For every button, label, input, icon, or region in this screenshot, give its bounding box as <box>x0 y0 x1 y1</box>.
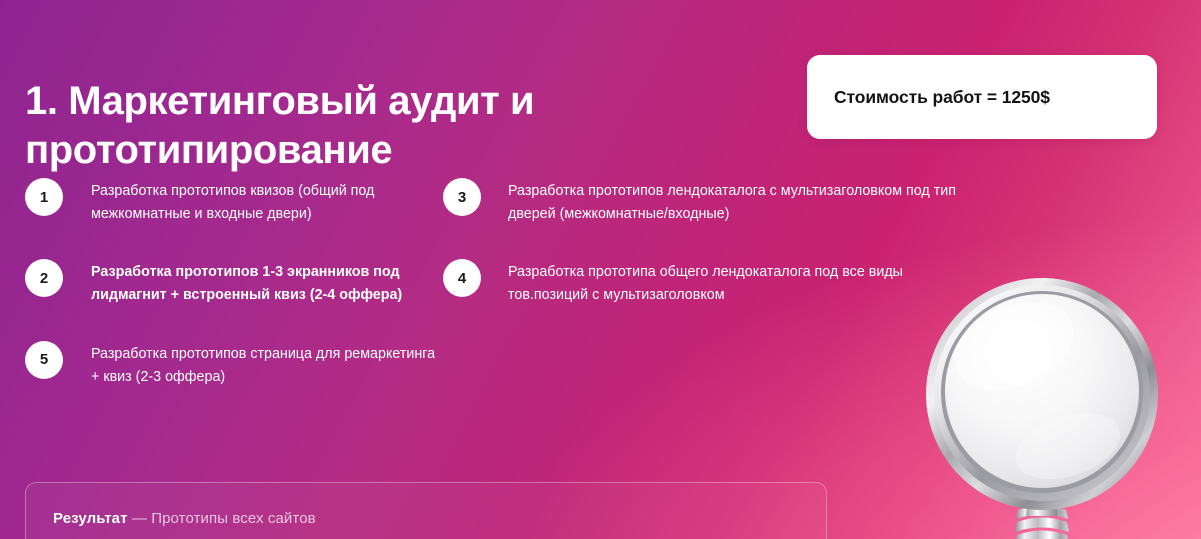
list-item: 3 Разработка прототипов лендокаталога с … <box>443 178 963 226</box>
item-text: Разработка прототипов лендокаталога с му… <box>508 178 963 226</box>
list-item: 4 Разработка прототипа общего лендокатал… <box>443 259 963 307</box>
item-text: Разработка прототипа общего лендокаталог… <box>508 259 963 307</box>
page-title: 1. Маркетинговый аудит и прототипировани… <box>25 77 665 175</box>
item-number-badge: 3 <box>443 178 481 216</box>
item-list-right: 3 Разработка прототипов лендокаталога с … <box>443 178 963 341</box>
item-number-badge: 1 <box>25 178 63 216</box>
item-text: Разработка прототипов квизов (общий под … <box>91 178 445 226</box>
result-bar: Результат — Прототипы всех сайтов <box>25 482 827 539</box>
list-item: 2 Разработка прототипов 1-3 экранников п… <box>25 259 445 307</box>
list-item: 5 Разработка прототипов страница для рем… <box>25 341 445 389</box>
result-separator: — <box>128 510 152 527</box>
result-value: Прототипы всех сайтов <box>151 510 316 527</box>
price-badge-label: Стоимость работ = 1250$ <box>807 87 1050 108</box>
item-text: Разработка прототипов 1-3 экранников под… <box>91 259 445 307</box>
list-item: 1 Разработка прототипов квизов (общий по… <box>25 178 445 226</box>
item-number-badge: 4 <box>443 259 481 297</box>
item-text: Разработка прототипов страница для ремар… <box>91 341 445 389</box>
item-list-left: 1 Разработка прототипов квизов (общий по… <box>25 178 445 422</box>
price-badge: Стоимость работ = 1250$ <box>807 55 1157 139</box>
result-label: Результат <box>53 510 128 527</box>
slide-root: 1. Маркетинговый аудит и прототипировани… <box>0 0 1201 539</box>
item-number-badge: 5 <box>25 341 63 379</box>
result-text: Результат — Прототипы всех сайтов <box>26 510 316 527</box>
item-number-badge: 2 <box>25 259 63 297</box>
